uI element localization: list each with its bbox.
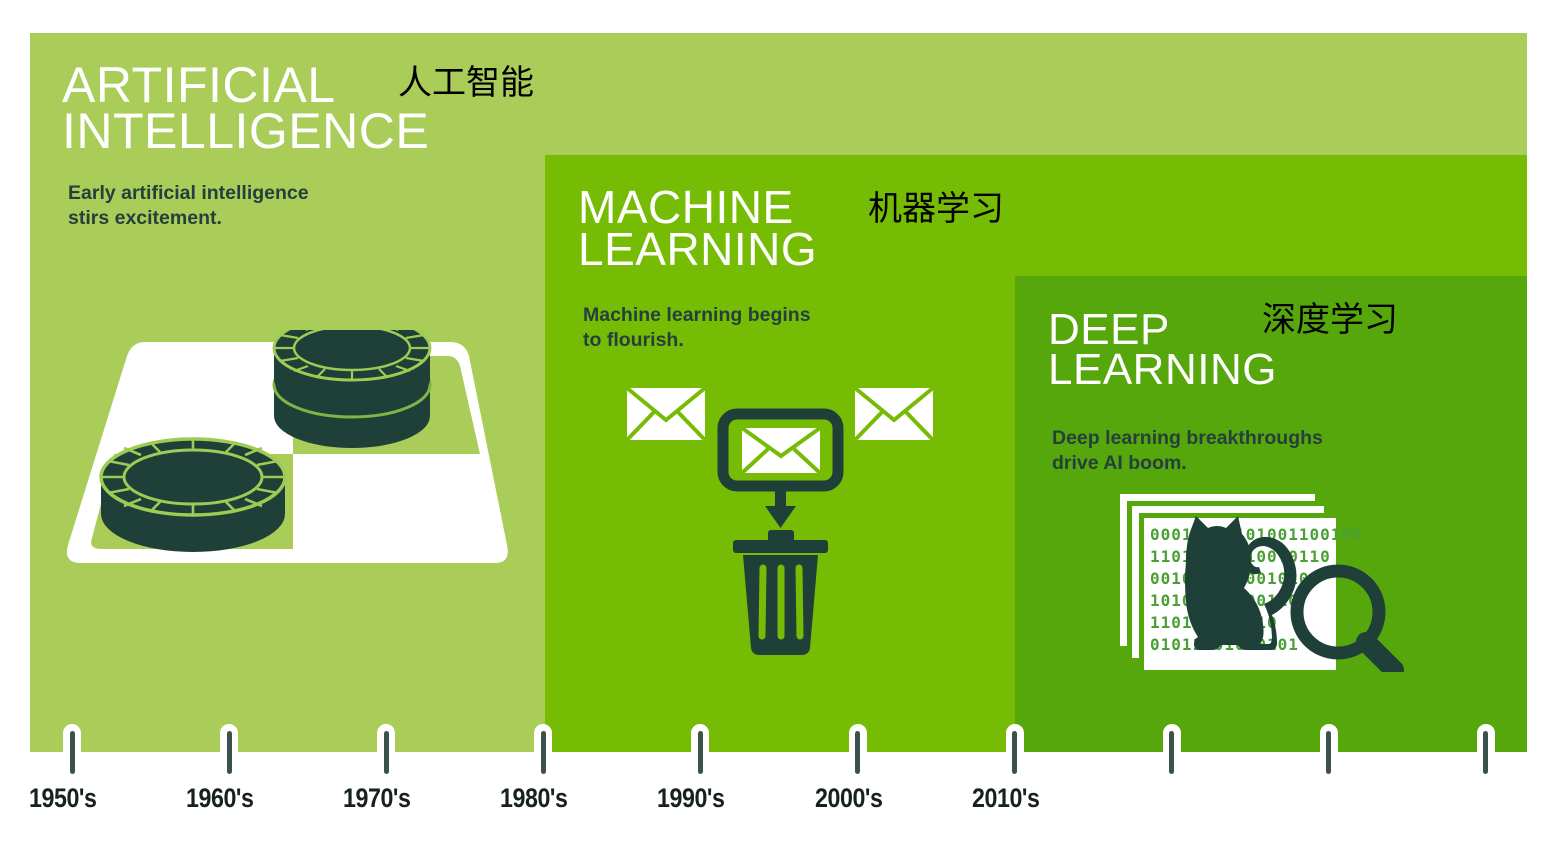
infographic-canvas: 00010100101001100100 110101101100.0110 0… <box>0 0 1560 860</box>
timeline-tick-label: 2010's <box>972 783 1040 814</box>
cat-image-recognition-icon: 00010100101001100100 110101101100.0110 0… <box>1118 492 1418 677</box>
timeline-tick-label: 1960's <box>186 783 254 814</box>
panel-subtitle-deep-learning: Deep learning breakthroughs drive AI boo… <box>1052 426 1323 476</box>
timeline-tick-label: 1980's <box>500 783 568 814</box>
panel-title-artificial-intelligence: ARTIFICIAL INTELLIGENCE <box>62 62 429 154</box>
arrow-down-icon <box>765 486 796 528</box>
panel-subtitle-artificial-intelligence: Early artificial intelligence stirs exci… <box>68 181 309 231</box>
timeline-tick-label: 1950's <box>29 783 97 814</box>
annotation-machine-learning-cn: 机器学习 <box>868 192 1004 226</box>
annotation-artificial-intelligence-cn: 人工智能 <box>398 66 534 100</box>
trash-can-icon <box>733 530 828 655</box>
panel-subtitle-machine-learning: Machine learning begins to flourish. <box>583 303 811 353</box>
timeline-tick-label: 1990's <box>657 783 725 814</box>
envelope-icon <box>742 428 820 473</box>
panel-title-machine-learning: MACHINE LEARNING <box>578 186 817 271</box>
envelope-icon <box>627 388 705 440</box>
spam-email-to-trash-icon <box>605 378 965 673</box>
timeline-tick-label: 2000's <box>815 783 883 814</box>
panel-title-deep-learning: DEEP LEARNING <box>1048 310 1277 391</box>
checkerboard-with-checkers-icon <box>55 330 525 585</box>
envelope-icon <box>855 388 933 440</box>
timeline-tick-label: 1970's <box>343 783 411 814</box>
annotation-deep-learning-cn: 深度学习 <box>1262 303 1398 337</box>
